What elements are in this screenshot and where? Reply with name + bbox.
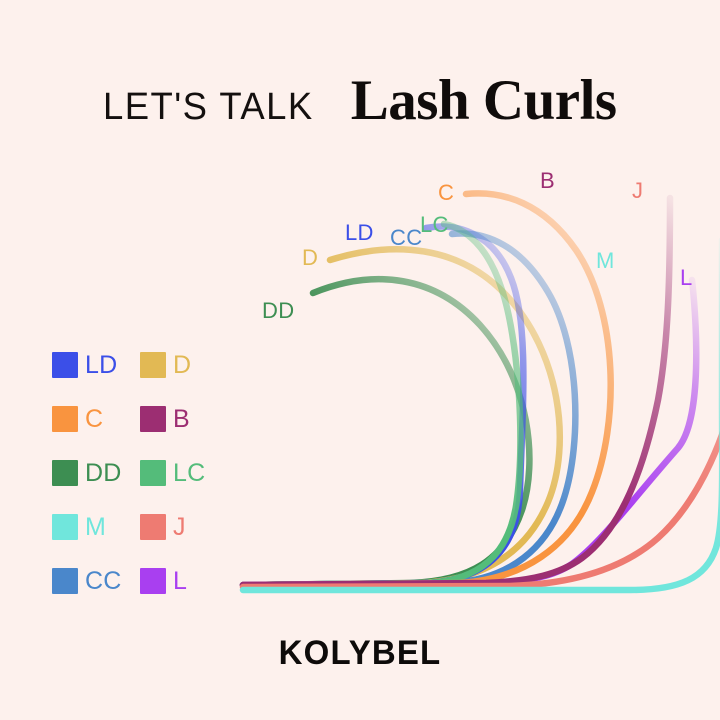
legend-item-d[interactable]: D: [140, 348, 222, 382]
legend-item-dd[interactable]: DD: [52, 456, 140, 490]
legend: LDDCBDDLCMJCCL: [52, 338, 222, 608]
legend-item-label: CC: [85, 569, 122, 594]
curve-label-dd: DD: [262, 298, 294, 323]
legend-item-label: C: [85, 407, 103, 432]
legend-item-m[interactable]: M: [52, 510, 140, 544]
title-kicker: LET'S TALK: [103, 88, 314, 126]
legend-swatch-icon: [140, 352, 166, 378]
legend-item-cc[interactable]: CC: [52, 564, 140, 598]
legend-item-j[interactable]: J: [140, 510, 222, 544]
legend-item-label: L: [173, 569, 187, 594]
curve-l: [243, 280, 696, 585]
legend-swatch-icon: [140, 406, 166, 432]
curve-chart-svg: DDDLDCCLCCLBJM: [230, 150, 710, 600]
legend-item-b[interactable]: B: [140, 402, 222, 436]
curve-dd: [243, 279, 529, 585]
brand-wordmark: KOLYBEL: [11, 634, 709, 673]
curve-label-ld: LD: [345, 220, 374, 245]
legend-swatch-icon: [52, 352, 78, 378]
curve-label-cc: CC: [390, 225, 422, 250]
legend-item-label: M: [85, 515, 106, 540]
curve-label-j: J: [632, 178, 643, 203]
curve-label-l: L: [680, 265, 693, 290]
page-title: LET'S TALK Lash Curls: [0, 72, 720, 134]
legend-swatch-icon: [52, 460, 78, 486]
curve-label-b: B: [540, 168, 555, 193]
legend-item-label: DD: [85, 461, 122, 486]
legend-swatch-icon: [52, 406, 78, 432]
legend-item-label: LC: [173, 461, 205, 486]
curve-label-d: D: [302, 245, 318, 270]
poster-canvas: LET'S TALK Lash Curls LDDCBDDLCMJCCL DDD…: [0, 0, 720, 720]
legend-swatch-icon: [140, 514, 166, 540]
legend-item-ld[interactable]: LD: [52, 348, 140, 382]
curve-label-c: C: [438, 180, 454, 205]
legend-swatch-icon: [52, 568, 78, 594]
legend-swatch-icon: [140, 460, 166, 486]
curve-label-lc: LC: [420, 212, 449, 237]
legend-item-label: D: [173, 353, 191, 378]
legend-item-l[interactable]: L: [140, 564, 222, 598]
legend-item-lc[interactable]: LC: [140, 456, 222, 490]
lash-curl-diagram: DDDLDCCLCCLBJM: [230, 150, 710, 600]
legend-item-label: LD: [85, 353, 117, 378]
legend-item-label: J: [173, 515, 186, 540]
legend-item-label: B: [173, 407, 190, 432]
title-main: Lash Curls: [351, 72, 617, 129]
legend-swatch-icon: [52, 514, 78, 540]
curve-label-m: M: [596, 248, 615, 273]
legend-swatch-icon: [140, 568, 166, 594]
legend-item-c[interactable]: C: [52, 402, 140, 436]
